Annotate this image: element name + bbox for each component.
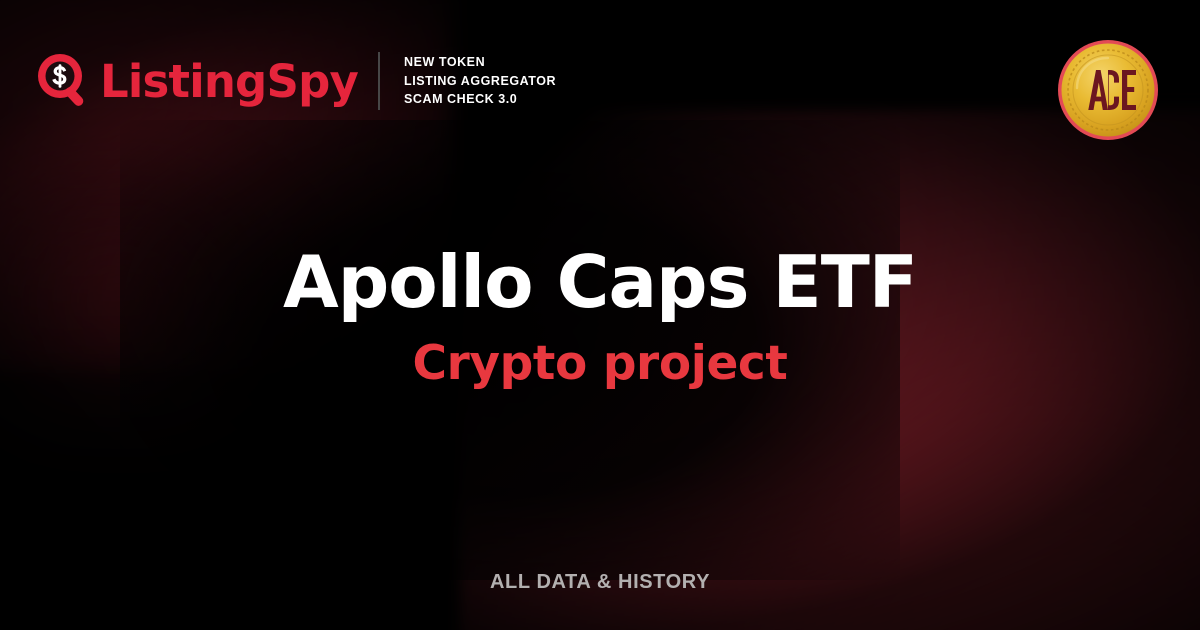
brand-tagline: NEW TOKEN LISTING AGGREGATOR SCAM CHECK … bbox=[404, 54, 556, 109]
header-divider bbox=[378, 52, 380, 110]
magnifier-dollar-icon bbox=[36, 52, 92, 110]
tagline-line-1: NEW TOKEN bbox=[404, 54, 556, 71]
brand-name: ListingSpy bbox=[100, 59, 358, 104]
tagline-line-3: SCAM CHECK 3.0 bbox=[404, 91, 556, 108]
hero-block: Apollo Caps ETF Crypto project bbox=[0, 246, 1200, 387]
page-subtitle: Crypto project bbox=[0, 340, 1200, 387]
footer-text: ALL DATA & HISTORY bbox=[490, 571, 710, 593]
page-title: Apollo Caps ETF bbox=[0, 246, 1200, 318]
tagline-line-2: LISTING AGGREGATOR bbox=[404, 73, 556, 90]
ace-coin-icon bbox=[1056, 38, 1160, 142]
footer: ALL DATA & HISTORY bbox=[0, 571, 1200, 594]
header: ListingSpy NEW TOKEN LISTING AGGREGATOR … bbox=[36, 52, 556, 110]
brand-logo[interactable]: ListingSpy bbox=[36, 52, 358, 110]
share-card-canvas: ListingSpy NEW TOKEN LISTING AGGREGATOR … bbox=[0, 0, 1200, 630]
